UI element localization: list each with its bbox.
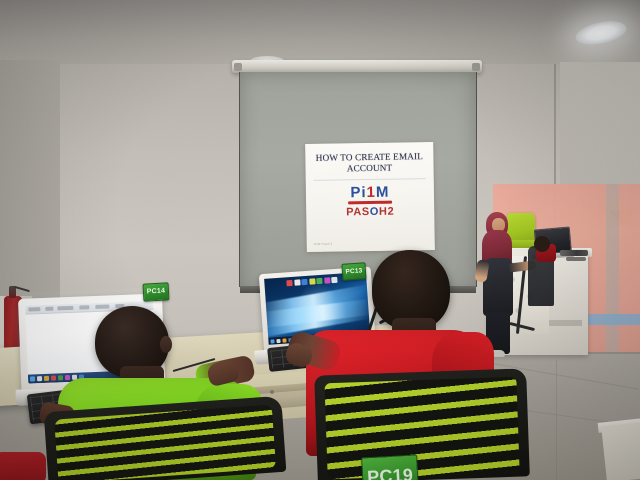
- desktop-icon-green[interactable]: [316, 278, 322, 284]
- classroom-photo: HOW TO CREATE EMAIL ACCOUNT Pi1M PASOH2 …: [0, 0, 640, 480]
- taskbar-start-icon[interactable]: [270, 339, 274, 343]
- housing-cap-right: [472, 63, 480, 71]
- pc-tag-foreground: PC19: [361, 455, 419, 480]
- toolbar-chip[interactable]: [79, 305, 89, 309]
- desktop-icon-red[interactable]: [286, 280, 292, 286]
- table-fastener: [270, 390, 274, 394]
- slide-footnote: Pi1M Pasoh 2: [314, 243, 333, 246]
- desktop-icon-yellow[interactable]: [309, 278, 315, 284]
- desk-item-papers: [566, 257, 586, 261]
- chair-frame: [314, 368, 530, 480]
- student-green-ear: [160, 336, 172, 353]
- taskbar-start-icon[interactable]: [30, 376, 35, 381]
- desktop-icon-purple[interactable]: [324, 277, 330, 283]
- desktop-icon-blue[interactable]: [301, 279, 307, 285]
- taskbar-search-icon[interactable]: [37, 376, 42, 381]
- taskbar-app-icon[interactable]: [58, 375, 63, 380]
- taskbar-app-icon[interactable]: [51, 376, 56, 381]
- toolbar-chip[interactable]: [57, 306, 73, 311]
- taskbar-app-icon[interactable]: [65, 375, 70, 380]
- background-person-head: [534, 236, 550, 252]
- presentation-slide: HOW TO CREATE EMAIL ACCOUNT Pi1M PASOH2 …: [305, 142, 435, 252]
- desktop-icon-grey[interactable]: [331, 277, 337, 283]
- pc-tag-left: PC14: [143, 282, 170, 301]
- taskbar-explorer-icon[interactable]: [282, 338, 286, 342]
- housing-cap-left: [234, 63, 242, 71]
- pi1m-logo-text: Pi1M: [306, 184, 434, 201]
- chair-slats: [54, 404, 276, 480]
- desk-item-keyboard: [560, 250, 588, 256]
- toolbar-chip[interactable]: [95, 304, 109, 309]
- floor-tile-line: [556, 360, 557, 480]
- chair-front-right[interactable]: [314, 368, 530, 480]
- toolbar-chip[interactable]: [45, 307, 53, 311]
- projection-vertical-band: [606, 184, 619, 352]
- toolbar-chip[interactable]: [28, 307, 40, 311]
- taskbar-search-icon[interactable]: [276, 338, 280, 342]
- pasoh2-logo-text: PASOH2: [306, 204, 434, 219]
- slide-logo: Pi1M PASOH2: [306, 184, 435, 220]
- slide-title: HOW TO CREATE EMAIL ACCOUNT: [308, 151, 430, 175]
- slide-divider: [314, 178, 426, 181]
- foreground-red-object: [0, 452, 46, 480]
- desktop-icon-white[interactable]: [294, 279, 300, 285]
- pc-tag-center: PC13: [341, 262, 366, 281]
- taskbar-explorer-icon[interactable]: [44, 376, 49, 381]
- chair-slats: [324, 377, 519, 480]
- right-desk: [601, 422, 640, 480]
